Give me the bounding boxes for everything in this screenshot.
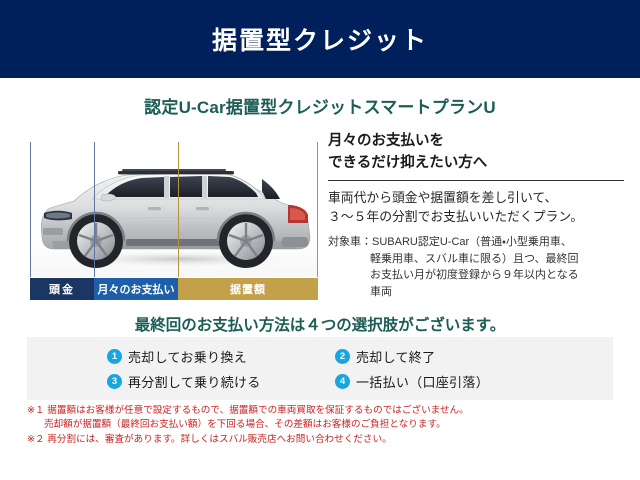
- header-banner: 据置型クレジット: [0, 0, 640, 78]
- segment-divider-left: [30, 142, 31, 277]
- body-line-2: ３〜５年の分割でお支払いいただくプラン。: [328, 207, 624, 226]
- footnote-line-2: 売却額が据置額（最終回お支払い額）を下回る場合、その差額はお客様のご負担となりま…: [27, 418, 613, 432]
- option-number-badge-1: 1: [107, 349, 122, 364]
- option-item-1[interactable]: 1 売却してお乗り換え: [107, 347, 335, 366]
- option-label-4: 一括払い（口座引落）: [356, 372, 489, 391]
- segment-divider-monthly: [178, 142, 179, 277]
- segment-divider-right: [317, 142, 318, 277]
- car-payment-breakdown-panel: 頭金 月々のお支払い 据置額: [30, 133, 318, 301]
- option-item-4[interactable]: 4 一括払い（口座引落）: [335, 372, 577, 391]
- final-payment-heading: 最終回のお支払い方法は４つの選択肢がございます。: [0, 313, 640, 335]
- car-photo: [30, 133, 318, 277]
- target-vehicle-note: 対象車：SUBARU認定U-Car（普通・小型乗用車、 軽乗用車、スバル車に限る…: [328, 234, 624, 301]
- segment-downpayment: 頭金: [30, 278, 94, 300]
- segment-divider-downpayment: [94, 142, 95, 277]
- target-line-1: 対象車：SUBARU認定U-Car（普通・小型乗用車、: [328, 234, 624, 251]
- option-number-badge-3: 3: [107, 374, 122, 389]
- final-payment-options-grid: 1 売却してお乗り換え 2 売却して終了 3 再分割して乗り続ける 4 一括払い…: [107, 344, 577, 394]
- option-label-1: 売却してお乗り換え: [128, 347, 247, 366]
- target-line-4: 車両: [328, 284, 624, 301]
- final-payment-options-box: 1 売却してお乗り換え 2 売却して終了 3 再分割して乗り続ける 4 一括払い…: [27, 337, 613, 400]
- payment-segment-bar: 頭金 月々のお支払い 据置額: [30, 278, 318, 300]
- option-label-3: 再分割して乗り続ける: [128, 372, 261, 391]
- option-item-2[interactable]: 2 売却して終了: [335, 347, 577, 366]
- lead-line-2: できるだけ抑えたい方へ: [328, 152, 624, 174]
- segment-monthly-payment: 月々のお支払い: [94, 278, 178, 300]
- option-label-2: 売却して終了: [356, 347, 435, 366]
- footnotes: ※１ 据置額はお客様が任意で設定するもので、据置額での車両買取を保証するものでは…: [27, 404, 613, 447]
- footnote-line-1: ※１ 据置額はお客様が任意で設定するもので、据置額での車両買取を保証するものでは…: [27, 404, 613, 418]
- target-line-3: お支払い月が初度登録から９年以内となる: [328, 267, 624, 284]
- target-line-2: 軽乗用車、スバル車に限る）且つ、最終回: [328, 251, 624, 268]
- footnote-line-3: ※２ 再分割には、審査があります。詳しくはスバル販売店へお問い合わせください。: [27, 433, 613, 447]
- plan-body-copy: 車両代から頭金や据置額を差し引いて、 ３〜５年の分割でお支払いいただくプラン。: [328, 188, 624, 227]
- page-title: 据置型クレジット: [212, 21, 428, 57]
- segment-deferred-amount: 据置額: [178, 278, 318, 300]
- suv-side-view-icon: [30, 133, 318, 277]
- plan-subtitle: 認定U-Car据置型クレジットスマートプランU: [0, 93, 640, 118]
- option-number-badge-4: 4: [335, 374, 350, 389]
- body-line-1: 車両代から頭金や据置額を差し引いて、: [328, 188, 624, 207]
- option-number-badge-2: 2: [335, 349, 350, 364]
- option-item-3[interactable]: 3 再分割して乗り続ける: [107, 372, 335, 391]
- lead-headline: 月々のお支払いを できるだけ抑えたい方へ: [328, 130, 624, 181]
- plan-description-column: 月々のお支払いを できるだけ抑えたい方へ 車両代から頭金や据置額を差し引いて、 …: [328, 130, 624, 301]
- lead-line-1: 月々のお支払いを: [328, 130, 624, 152]
